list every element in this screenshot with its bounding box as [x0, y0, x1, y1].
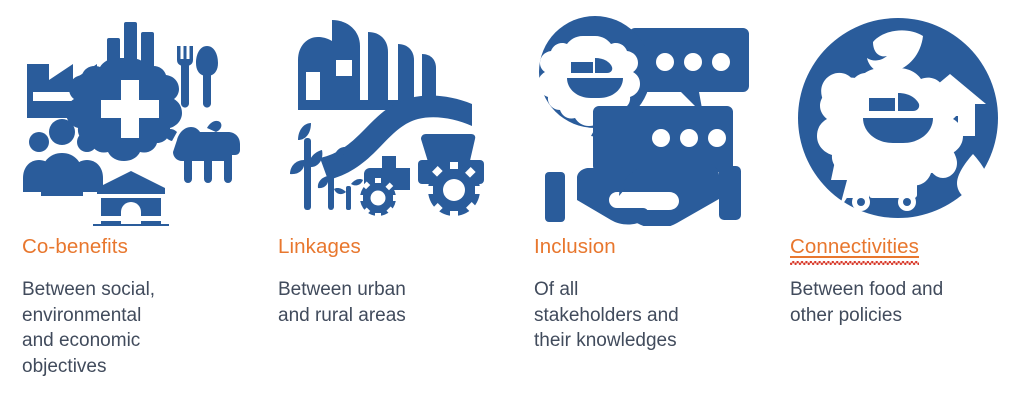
- inclusion-icon: [512, 0, 768, 236]
- description-line: and rural areas: [278, 303, 502, 329]
- column-inclusion: Inclusion Of all stakeholders and their …: [512, 0, 768, 420]
- cow-icon: [165, 121, 240, 183]
- linkages-icon: [256, 0, 512, 236]
- description-linkages: Between urban and rural areas: [278, 258, 502, 328]
- description-line: environmental: [22, 303, 246, 329]
- column-co-benefits: Co-benefits Between social, environmenta…: [0, 0, 256, 420]
- co-benefits-icon: [0, 0, 256, 236]
- column-linkages: Linkages Between urban and rural areas: [256, 0, 512, 420]
- text-block-linkages: Linkages Between urban and rural areas: [256, 236, 512, 328]
- description-line: Between social,: [22, 277, 246, 303]
- open-hands-icon: [545, 163, 741, 226]
- description-line: objectives: [22, 354, 246, 380]
- column-connectivities: Connectivities Between food and other po…: [768, 0, 1024, 420]
- heading-linkages: Linkages: [278, 236, 361, 258]
- fork-and-knife-icon: [177, 46, 218, 108]
- text-block-connectivities: Connectivities Between food and other po…: [768, 236, 1024, 328]
- text-block-inclusion: Inclusion Of all stakeholders and their …: [512, 236, 768, 354]
- description-line: Between food and: [790, 277, 1014, 303]
- description-line: their knowledges: [534, 328, 758, 354]
- description-line: other policies: [790, 303, 1014, 329]
- description-co-benefits: Between social, environmental and econom…: [22, 258, 246, 379]
- description-line: stakeholders and: [534, 303, 758, 329]
- spellcheck-squiggle: [790, 261, 919, 265]
- text-block-co-benefits: Co-benefits Between social, environmenta…: [0, 236, 256, 379]
- heading-inclusion: Inclusion: [534, 236, 616, 258]
- description-line: Between urban: [278, 277, 502, 303]
- columns-container: Co-benefits Between social, environmenta…: [0, 0, 1024, 420]
- description-line: and economic: [22, 328, 246, 354]
- description-inclusion: Of all stakeholders and their knowledges: [534, 258, 758, 354]
- heading-connectivities: Connectivities: [790, 236, 919, 258]
- bank-building-icon: [93, 171, 169, 226]
- heading-co-benefits: Co-benefits: [22, 236, 128, 258]
- city-skyline-icon: [298, 20, 436, 110]
- description-line: Of all: [534, 277, 758, 303]
- infographic-board: Co-benefits Between social, environmenta…: [0, 0, 1024, 420]
- description-connectivities: Between food and other policies: [790, 258, 1014, 328]
- heading-connectivities-label: Connectivities: [790, 235, 919, 258]
- connectivities-icon: [768, 0, 1024, 236]
